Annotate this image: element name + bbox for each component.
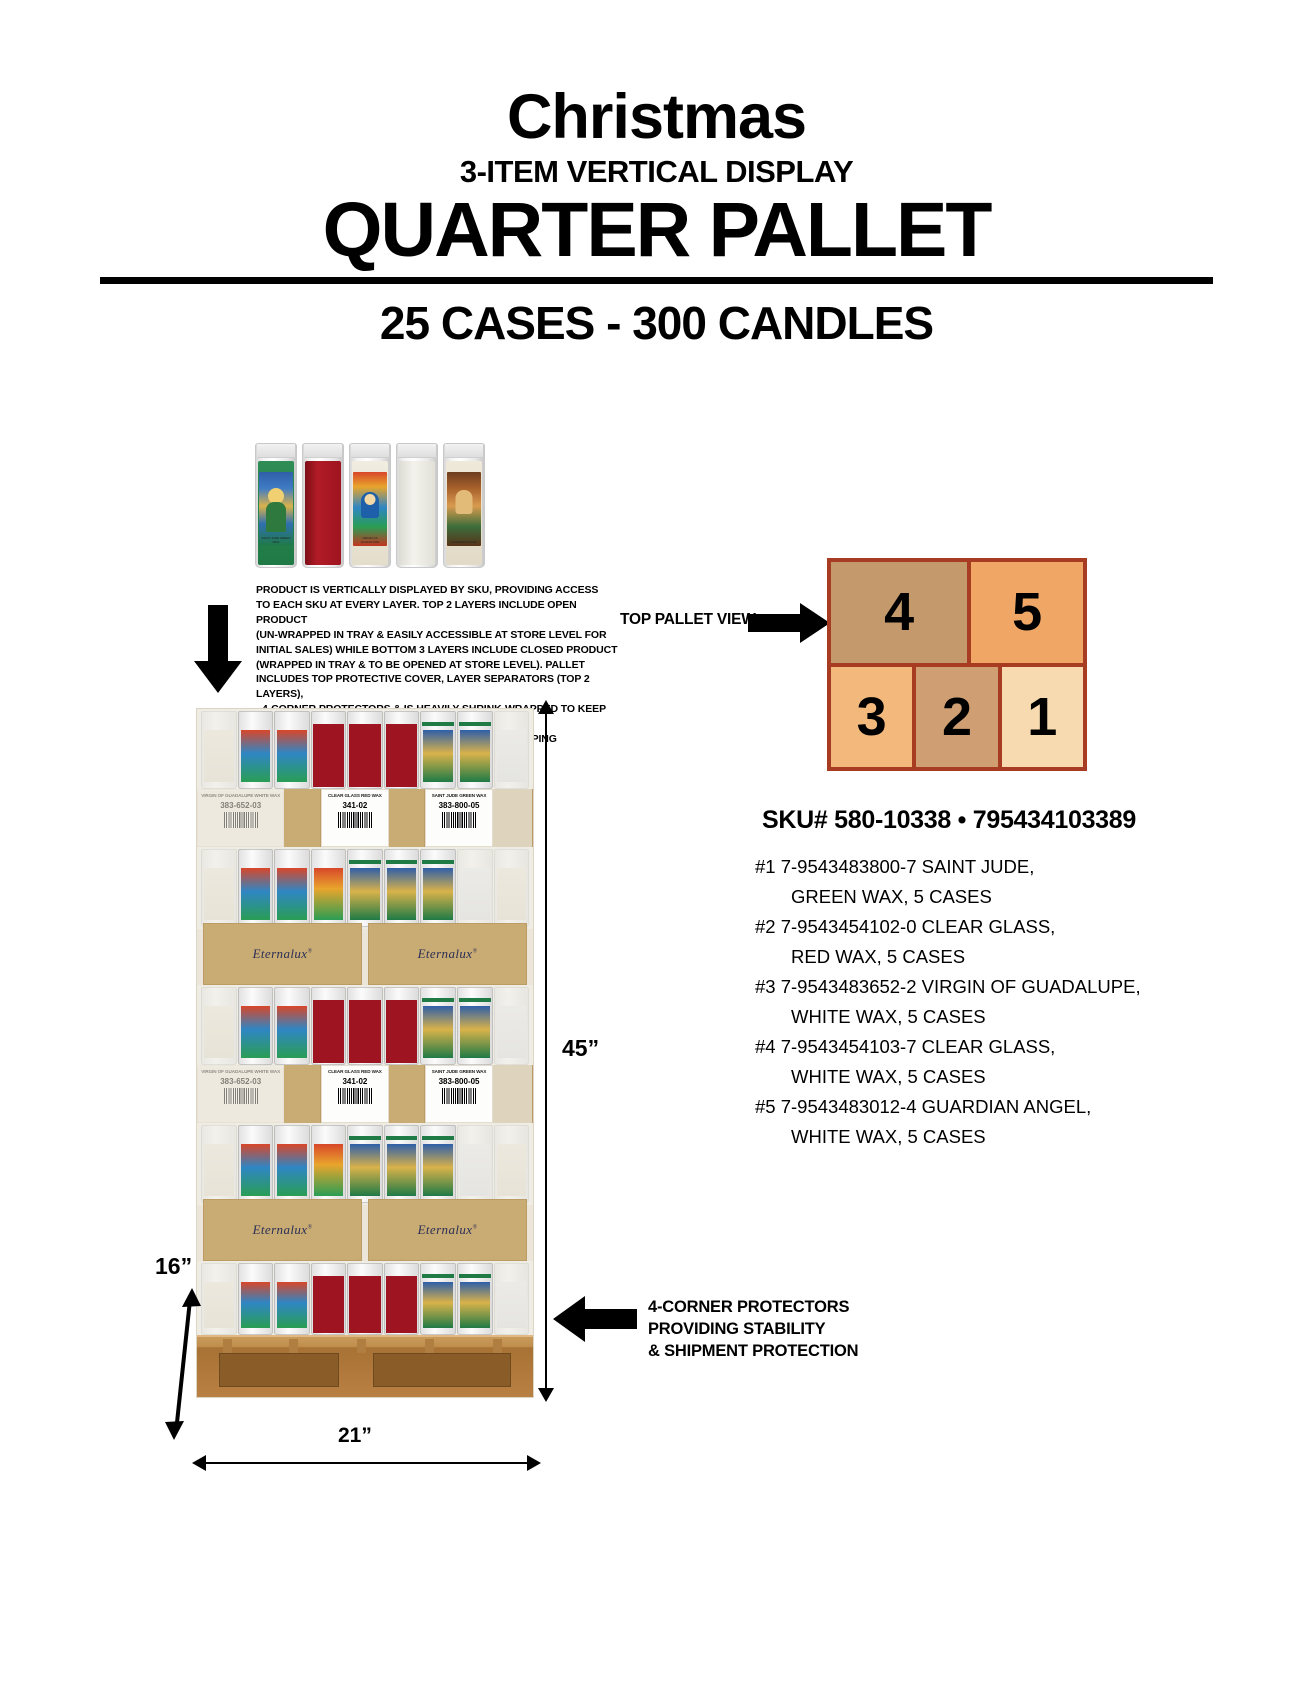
case-code: 383-652-03 [220, 1077, 261, 1086]
mini-candle [457, 1263, 493, 1335]
right-arrow-icon [748, 603, 830, 643]
wrapped-tray: Eternalux® [368, 1199, 527, 1261]
sku-item: #2 7-9543454102-0 CLEAR GLASS, RED WAX, … [755, 912, 1225, 972]
candle-band [197, 847, 533, 929]
candle-wax [305, 461, 341, 565]
sku-item-line2: WHITE WAX, 5 CASES [755, 1062, 1225, 1092]
carton [493, 789, 533, 847]
dimension-height-label: 45” [562, 1035, 599, 1062]
sku-item-line1: #3 7-9543483652-2 VIRGIN OF GUADALUPE, [755, 972, 1225, 1002]
barcode-icon [338, 1088, 372, 1104]
tpv-cell-number: 3 [857, 686, 887, 748]
case-label-clear-red: CLEAR GLASS RED WAX 341-02 [321, 1065, 388, 1123]
mini-candle [420, 711, 456, 789]
case-name: SAINT JUDE GREEN WAX [432, 793, 487, 799]
mini-candle [494, 987, 530, 1065]
case-code: 383-652-03 [220, 801, 261, 810]
candle-virgin-of-guadalupe: VIRGIN OF GUADALUPE [349, 443, 391, 568]
mini-candle [420, 849, 456, 927]
mini-candle [384, 1125, 420, 1203]
mini-candle [347, 849, 383, 927]
mini-candle [274, 1263, 310, 1335]
candle-rim [304, 444, 342, 458]
dim-arrow-bottom-icon [538, 1388, 554, 1402]
case-name: CLEAR GLASS RED WAX [328, 793, 382, 799]
sku-item-line1: #5 7-9543483012-4 GUARDIAN ANGEL, [755, 1092, 1225, 1122]
dimension-width-label: 21” [338, 1424, 372, 1448]
pallet-elevation-diagram: VIRGIN OF GUADALUPE WHITE WAX 383-652-03… [196, 708, 534, 1398]
carton [284, 789, 321, 847]
mini-candle [347, 1263, 383, 1335]
sku-list: #1 7-9543483800-7 SAINT JUDE, GREEN WAX,… [755, 852, 1225, 1152]
sku-item-line2: RED WAX, 5 CASES [755, 942, 1225, 972]
callout-line: PROVIDING STABILITY [648, 1319, 858, 1341]
tpv-bottom-row: 3 2 1 [831, 667, 1083, 768]
dim-arrow-right-icon [527, 1455, 541, 1471]
mini-candle [494, 711, 530, 789]
candle-label-art: GUARDIAN ANGEL [447, 472, 481, 546]
mini-candle [311, 987, 347, 1065]
page-subtitle: 3-ITEM VERTICAL DISPLAY [0, 154, 1313, 190]
callout-line: 4-CORNER PROTECTORS [648, 1297, 858, 1319]
candle-clear-glass-white [396, 443, 438, 568]
mini-candle [238, 1263, 274, 1335]
mini-candle [457, 987, 493, 1065]
candle-caption: GUARDIAN ANGEL [447, 541, 481, 544]
carton [389, 1065, 426, 1123]
mini-candle [311, 1263, 347, 1335]
candle-label-art: SAINT JUDE GREEN WAX [259, 472, 293, 546]
mini-candle [311, 849, 347, 927]
page-title-quarter-pallet: QUARTER PALLET [0, 192, 1313, 269]
brand-eternalux: Eternalux® [253, 1222, 313, 1238]
mini-candle [420, 1125, 456, 1203]
sku-header: SKU# 580-10338 • 795434103389 [762, 806, 1136, 835]
pallet-layer-open: VIRGIN OF GUADALUPE WHITE WAX 383-652-03… [197, 709, 533, 847]
corner-protectors-callout: 4-CORNER PROTECTORS PROVIDING STABILITY … [648, 1297, 858, 1362]
case-label-guadalupe: VIRGIN OF GUADALUPE WHITE WAX 383-652-03 [197, 789, 284, 847]
mini-candle [238, 849, 274, 927]
left-arrow-icon [553, 1296, 637, 1342]
mini-candle [201, 849, 237, 927]
desc-line: TO EACH SKU AT EVERY LAYER. TOP 2 LAYERS… [256, 598, 626, 628]
mini-candle [347, 711, 383, 789]
mini-candle [420, 987, 456, 1065]
sku-item-line2: WHITE WAX, 5 CASES [755, 1122, 1225, 1152]
case-label-saint-jude: SAINT JUDE GREEN WAX 383-800-05 [425, 1065, 492, 1123]
mini-candle [457, 1125, 493, 1203]
desc-line: INITIAL SALES) WHILE BOTTOM 3 LAYERS INC… [256, 643, 626, 658]
brand-eternalux: Eternalux® [253, 946, 313, 962]
sku-item: #5 7-9543483012-4 GUARDIAN ANGEL, WHITE … [755, 1092, 1225, 1152]
case-name: SAINT JUDE GREEN WAX [432, 1069, 487, 1075]
sku-item-line1: #4 7-9543454103-7 CLEAR GLASS, [755, 1032, 1225, 1062]
case-code: 383-800-05 [439, 1077, 480, 1086]
barcode-icon [442, 1088, 476, 1104]
pallet-layer-closed: Eternalux® Eternalux® [197, 1123, 533, 1261]
candle-band [197, 1123, 533, 1205]
mini-candle [274, 711, 310, 789]
dim-arrow-top-icon [538, 700, 554, 714]
mini-candle [384, 849, 420, 927]
brand-eternalux: Eternalux® [418, 1222, 478, 1238]
candle-rim [398, 444, 436, 458]
candle-rim [257, 444, 295, 458]
wrapped-tray: Eternalux® [368, 923, 527, 985]
mini-candle [457, 849, 493, 927]
mini-candle [238, 711, 274, 789]
mini-candle [201, 1125, 237, 1203]
case-label-guadalupe: VIRGIN OF GUADALUPE WHITE WAX 383-652-03 [197, 1065, 284, 1123]
case-name: VIRGIN OF GUADALUPE WHITE WAX [201, 1069, 280, 1075]
sku-item: #3 7-9543483652-2 VIRGIN OF GUADALUPE, W… [755, 972, 1225, 1032]
desc-line: INCLUDES TOP PROTECTIVE COVER, LAYER SEP… [256, 672, 626, 702]
dim-arrow-left-icon [192, 1455, 206, 1471]
desc-line: (WRAPPED IN TRAY & TO BE OPENED AT STORE… [256, 658, 626, 673]
tpv-cell-2: 2 [916, 667, 997, 768]
desc-line: (UN-WRAPPED IN TRAY & EASILY ACCESSIBLE … [256, 628, 626, 643]
tpv-cell-1: 1 [1002, 667, 1083, 768]
sku-item-line1: #1 7-9543483800-7 SAINT JUDE, [755, 852, 1225, 882]
mini-candle [201, 711, 237, 789]
candle-saint-jude-green: SAINT JUDE GREEN WAX [255, 443, 297, 568]
tpv-cell-number: 1 [1027, 686, 1057, 748]
barcode-icon [442, 812, 476, 828]
wrapped-tray-row: Eternalux® Eternalux® [197, 923, 533, 985]
candle-product-row: SAINT JUDE GREEN WAX VIRGIN OF GUADALUPE [255, 443, 485, 568]
pallet-layer-closed: Eternalux® Eternalux® [197, 847, 533, 985]
candle-wax [399, 461, 435, 565]
candle-band [197, 709, 533, 791]
barcode-icon [224, 1088, 258, 1104]
carton [493, 1065, 533, 1123]
brand-eternalux: Eternalux® [418, 946, 478, 962]
candle-caption: SAINT JUDE GREEN WAX [259, 537, 293, 544]
wooden-pallet-base [197, 1335, 533, 1397]
header-divider [100, 277, 1213, 284]
candle-guardian-angel: GUARDIAN ANGEL [443, 443, 485, 568]
candle-rim [351, 444, 389, 458]
case-code: 341-02 [342, 1077, 367, 1086]
mini-candle [238, 987, 274, 1065]
dimension-line-height [545, 706, 547, 1400]
sku-item: #4 7-9543454103-7 CLEAR GLASS, WHITE WAX… [755, 1032, 1225, 1092]
top-pallet-view-label: TOP PALLET VIEW [620, 611, 756, 629]
top-pallet-view-grid: 4 5 3 2 1 [827, 558, 1087, 771]
mini-candle [384, 987, 420, 1065]
tpv-cell-number: 2 [942, 686, 972, 748]
candle-clear-glass-red [302, 443, 344, 568]
candle-caption: VIRGIN OF GUADALUPE [353, 537, 387, 544]
sku-item: #1 7-9543483800-7 SAINT JUDE, GREEN WAX,… [755, 852, 1225, 912]
spec-sheet-page: Christmas 3-ITEM VERTICAL DISPLAY QUARTE… [0, 0, 1313, 1688]
carton [284, 1065, 321, 1123]
sku-item-line1: #2 7-9543454102-0 CLEAR GLASS, [755, 912, 1225, 942]
dimension-base-height-label: 16” [155, 1253, 192, 1280]
mini-candle [347, 1125, 383, 1203]
mini-candle [494, 1263, 530, 1335]
callout-line: & SHIPMENT PROTECTION [648, 1341, 858, 1363]
dimension-line-width [198, 1462, 534, 1464]
wrapped-tray: Eternalux® [203, 1199, 362, 1261]
carton [389, 789, 426, 847]
case-label-saint-jude: SAINT JUDE GREEN WAX 383-800-05 [425, 789, 492, 847]
pallet-layer-open: VIRGIN OF GUADALUPE WHITE WAX 383-652-03… [197, 985, 533, 1123]
tpv-cell-number: 5 [1012, 581, 1042, 643]
case-label-clear-red: CLEAR GLASS RED WAX 341-02 [321, 789, 388, 847]
mini-candle [457, 711, 493, 789]
case-row: VIRGIN OF GUADALUPE WHITE WAX 383-652-03… [197, 1065, 533, 1123]
mini-candle [311, 711, 347, 789]
cases-count-line: 25 CASES - 300 CANDLES [0, 296, 1313, 350]
down-arrow-icon [192, 605, 244, 695]
mini-candle [384, 1263, 420, 1335]
case-name: VIRGIN OF GUADALUPE WHITE WAX [201, 793, 280, 799]
sku-item-line2: GREEN WAX, 5 CASES [755, 882, 1225, 912]
mini-candle [274, 987, 310, 1065]
mini-candle [238, 1125, 274, 1203]
case-name: CLEAR GLASS RED WAX [328, 1069, 382, 1075]
mini-candle [384, 711, 420, 789]
barcode-icon [224, 812, 258, 828]
mini-candle [274, 849, 310, 927]
wrapped-tray-row: Eternalux® Eternalux® [197, 1199, 533, 1261]
mini-candle [420, 1263, 456, 1335]
candle-band [197, 985, 533, 1067]
wrapped-tray: Eternalux® [203, 923, 362, 985]
tpv-cell-4: 4 [831, 562, 967, 663]
candle-band [197, 1261, 533, 1337]
mini-candle [274, 1125, 310, 1203]
tpv-cell-5: 5 [971, 562, 1083, 663]
sku-item-line2: WHITE WAX, 5 CASES [755, 1002, 1225, 1032]
barcode-icon [338, 812, 372, 828]
tpv-cell-number: 4 [884, 581, 914, 643]
tpv-top-row: 4 5 [831, 562, 1083, 663]
mini-candle [311, 1125, 347, 1203]
tpv-cell-3: 3 [831, 667, 912, 768]
case-code: 383-800-05 [439, 801, 480, 810]
desc-line: PRODUCT IS VERTICALLY DISPLAYED BY SKU, … [256, 583, 626, 598]
mini-candle [494, 1125, 530, 1203]
case-code: 341-02 [342, 801, 367, 810]
dimension-line-base-height [160, 1288, 208, 1440]
mini-candle [494, 849, 530, 927]
mini-candle [347, 987, 383, 1065]
page-title-christmas: Christmas [0, 88, 1313, 148]
case-row: VIRGIN OF GUADALUPE WHITE WAX 383-652-03… [197, 789, 533, 847]
mini-candle [201, 987, 237, 1065]
candle-label-art: VIRGIN OF GUADALUPE [353, 472, 387, 546]
candle-rim [445, 444, 483, 458]
page-header: Christmas 3-ITEM VERTICAL DISPLAY QUARTE… [0, 0, 1313, 350]
